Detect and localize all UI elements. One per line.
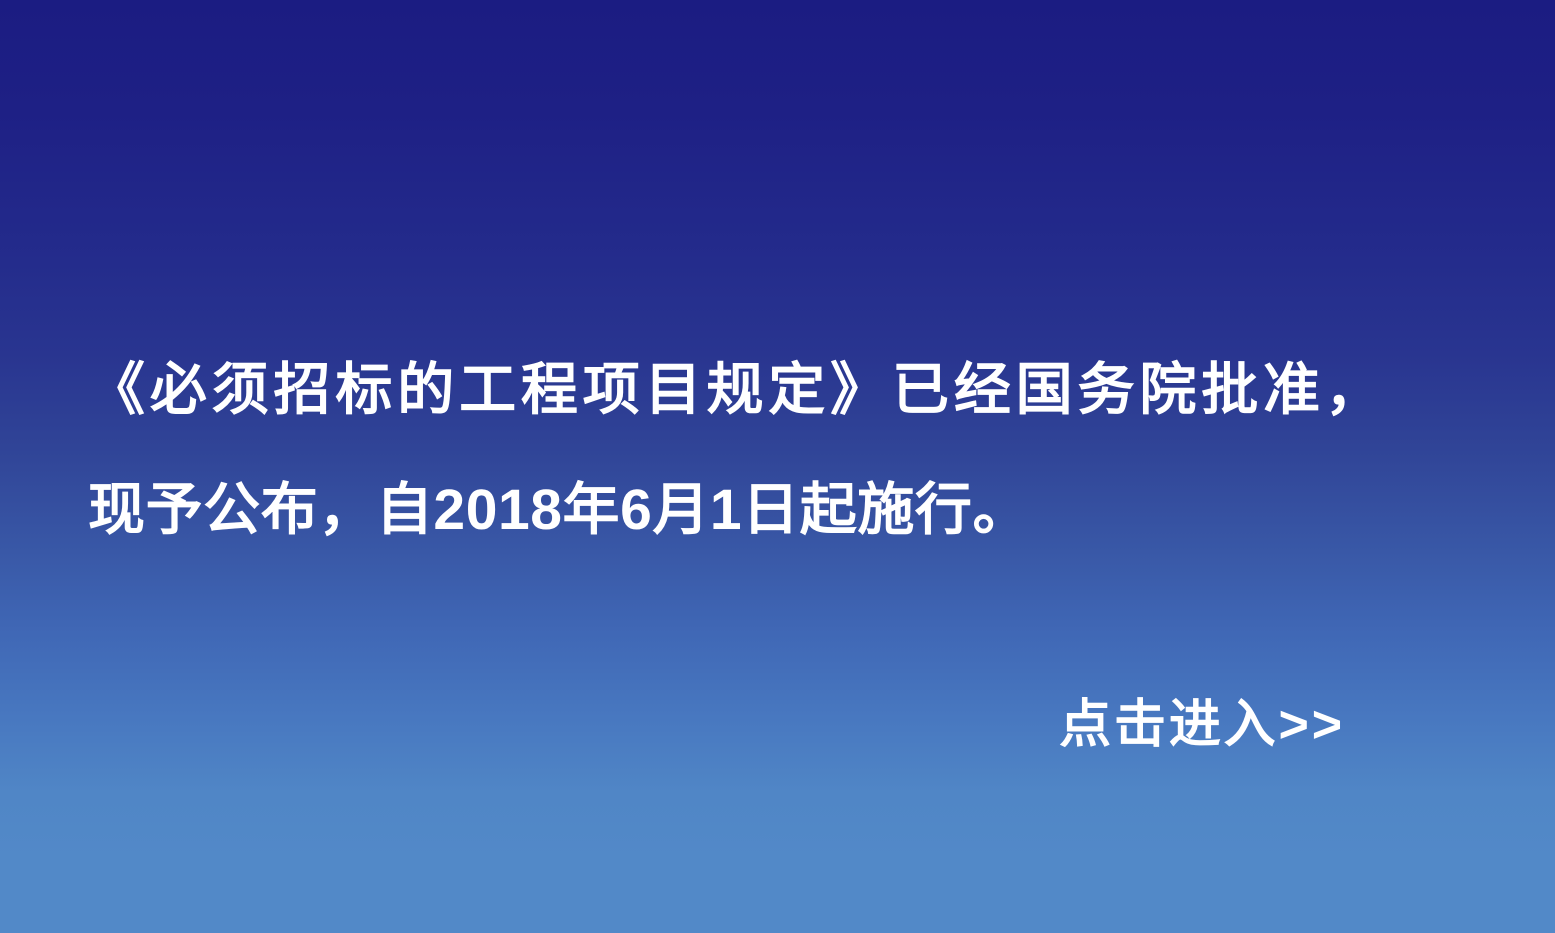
enter-link[interactable]: 点击进入>> (1059, 690, 1345, 760)
announcement-text-block: 《必须招标的工程项目规定》已经国务院批准， 现予公布，自2018年6月1日起施行… (88, 330, 1470, 570)
cta-row: 点击进入>> (0, 690, 1555, 760)
announcement-banner: 《必须招标的工程项目规定》已经国务院批准， 现予公布，自2018年6月1日起施行… (0, 0, 1555, 933)
announcement-line-1: 《必须招标的工程项目规定》已经国务院批准， (88, 330, 1470, 450)
announcement-line-2: 现予公布，自2018年6月1日起施行。 (88, 450, 1470, 570)
